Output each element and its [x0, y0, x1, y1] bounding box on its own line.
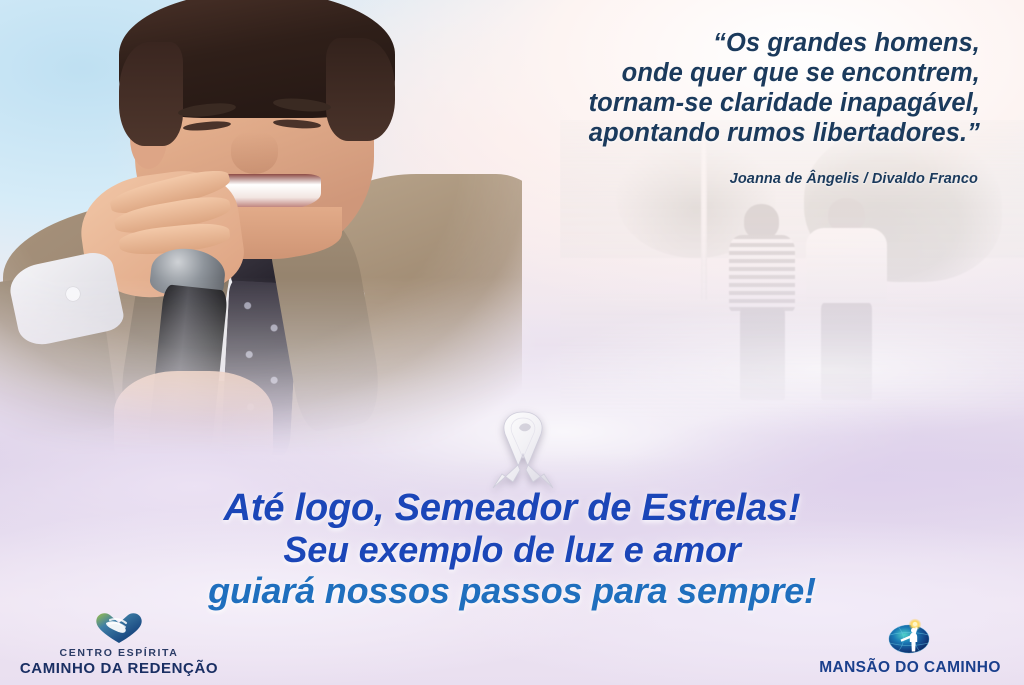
- quote-attribution: Joanna de Ângelis / Divaldo Franco: [358, 171, 978, 187]
- logo-mansao-do-caminho: MANSÃO DO CAMINHO: [800, 618, 1020, 677]
- logo-right-line-1: MANSÃO DO CAMINHO: [800, 659, 1020, 677]
- message-line-2: Seu exemplo de luz e amor: [0, 529, 1024, 570]
- message-line-3: guiará nossos passos para sempre!: [0, 570, 1024, 611]
- quote-line-1: “Os grandes homens,: [360, 28, 980, 58]
- white-mourning-ribbon-icon: [489, 408, 557, 490]
- quote-line-4: apontando rumos libertadores.”: [360, 118, 980, 148]
- memorial-poster: “Os grandes homens, onde quer que se enc…: [0, 0, 1024, 685]
- globe-torch-figure-icon: [884, 618, 936, 656]
- quote-text: “Os grandes homens, onde quer que se enc…: [360, 28, 980, 148]
- logo-left-line-2: CAMINHO DA REDENÇÃO: [4, 660, 234, 677]
- quote-line-3: tornam-se claridade inapagável,: [360, 88, 980, 118]
- quote-line-2: onde quer que se encontrem,: [360, 58, 980, 88]
- message-line-1: Até logo, Semeador de Estrelas!: [0, 487, 1024, 529]
- heart-hands-icon: [94, 611, 144, 644]
- logo-centro-espirita: CENTRO ESPÍRITA CAMINHO DA REDENÇÃO: [4, 611, 234, 677]
- logo-left-line-1: CENTRO ESPÍRITA: [4, 647, 234, 660]
- background-photo-two-men-walking: [560, 120, 1024, 420]
- farewell-message: Até logo, Semeador de Estrelas! Seu exem…: [0, 487, 1024, 611]
